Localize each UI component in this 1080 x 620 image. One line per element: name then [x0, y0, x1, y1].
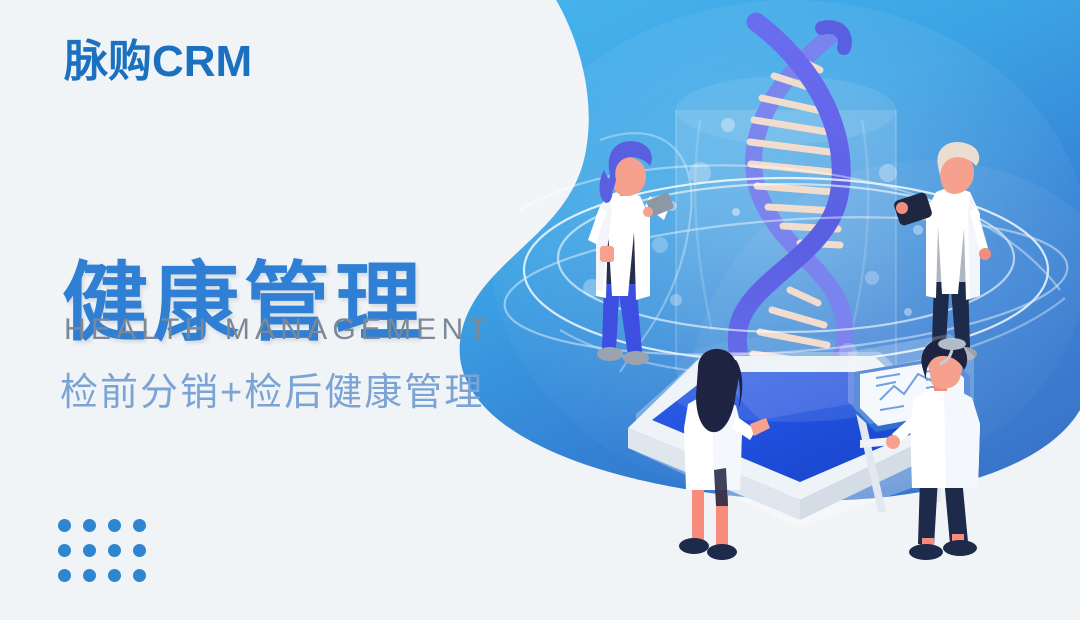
dot-grid-decoration	[58, 519, 158, 594]
figure-doctor-female-tablet	[588, 141, 674, 365]
health-management-banner: 脉购CRM 健康管理 HEALTH MANAGEMENT 检前分销+检后健康管理	[0, 0, 1080, 620]
dot	[133, 519, 146, 532]
dot	[133, 569, 146, 582]
shoe-left	[679, 538, 709, 554]
dot	[58, 569, 71, 582]
lamp-detail	[938, 338, 966, 350]
shoe-right	[623, 351, 649, 365]
shoe-left	[909, 544, 943, 560]
shoe-right	[943, 540, 977, 556]
page-tagline: 检前分销+检后健康管理	[60, 374, 484, 412]
shoe-right	[707, 544, 737, 560]
page-subtitle-english: HEALTH MANAGEMENT	[64, 315, 492, 345]
dot	[108, 519, 121, 532]
dot	[83, 569, 96, 582]
dot	[133, 544, 146, 557]
dot	[83, 544, 96, 557]
shoe-left	[597, 347, 623, 361]
dot	[108, 569, 121, 582]
dot	[108, 544, 121, 557]
dot	[58, 544, 71, 557]
dot	[58, 519, 71, 532]
figure-doctor-male-tablet	[893, 142, 991, 361]
dot	[83, 519, 96, 532]
brand-logo: 脉购CRM	[64, 40, 252, 84]
